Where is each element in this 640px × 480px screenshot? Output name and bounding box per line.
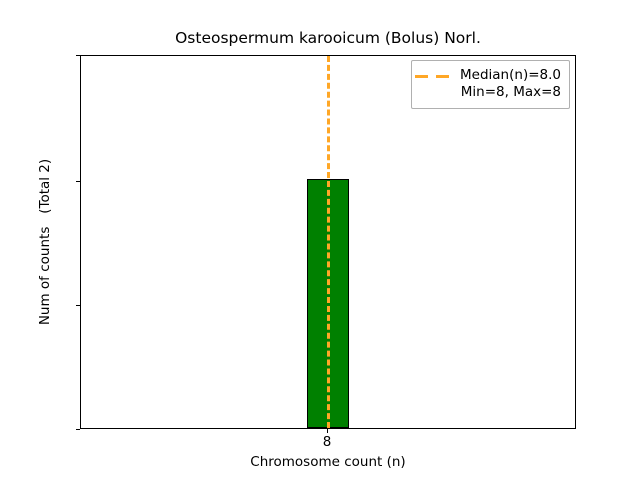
y-tick-mark-0 (76, 429, 80, 430)
dashed-line-icon (415, 70, 451, 82)
legend-label-minmax: Min=8, Max=8 (461, 84, 561, 101)
plot-inner (81, 56, 575, 428)
y-axis-title: Num of counts (Total 2) (37, 55, 53, 429)
legend-label-median: Median(n)=8.0 (460, 67, 561, 84)
legend-entry-median: Median(n)=8.0 (420, 67, 561, 84)
x-tick-label-8: 8 (323, 436, 332, 450)
median-line (327, 56, 330, 428)
legend-entry-minmax: Min=8, Max=8 (420, 84, 561, 101)
chart-figure: Osteospermum karooicum (Bolus) Norl. 3 2… (0, 0, 640, 480)
legend[interactable]: Median(n)=8.0 Min=8, Max=8 (411, 60, 570, 109)
x-axis-title: Chromosome count (n) (80, 455, 576, 470)
chart-title: Osteospermum karooicum (Bolus) Norl. (80, 29, 576, 48)
x-tick-mark-8 (327, 429, 328, 433)
plot-area (80, 55, 576, 429)
